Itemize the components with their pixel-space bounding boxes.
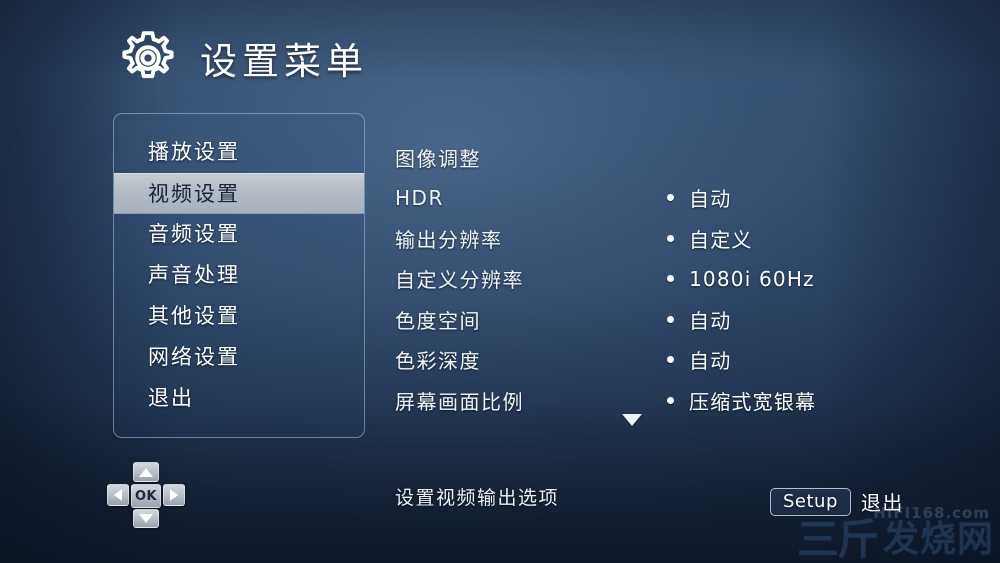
gear-icon <box>118 28 178 88</box>
dpad-control: OK <box>107 462 187 528</box>
dpad-down-button[interactable] <box>133 509 159 528</box>
option-row-color-depth[interactable]: 色彩深度 自动 <box>395 340 955 381</box>
sidebar-item-audio[interactable]: 音频设置 <box>114 214 364 255</box>
option-value: 自定义 <box>689 224 753 253</box>
option-value-container: 1080i 60Hz <box>667 267 815 291</box>
sidebar-item-sound-processing[interactable]: 声音处理 <box>114 255 364 296</box>
option-row-color-space[interactable]: 色度空间 自动 <box>395 299 955 340</box>
right-arrow-icon <box>170 489 178 501</box>
option-label: 输出分辨率 <box>395 224 667 253</box>
option-value-container: 压缩式宽银幕 <box>667 386 816 415</box>
dpad-ok-button[interactable]: OK <box>131 484 161 508</box>
option-row-output-resolution[interactable]: 输出分辨率 自定义 <box>395 218 955 259</box>
scroll-down-icon[interactable] <box>622 414 642 426</box>
sidebar-item-exit[interactable]: 退出 <box>114 378 364 419</box>
option-label: 自定义分辨率 <box>395 264 667 293</box>
option-value: 自动 <box>689 345 731 374</box>
down-arrow-icon <box>139 514 153 523</box>
option-value-container: 自动 <box>667 183 731 212</box>
dpad-right-button[interactable] <box>163 484 185 506</box>
option-value: 压缩式宽银幕 <box>689 386 816 415</box>
option-row-aspect-ratio[interactable]: 屏幕画面比例 压缩式宽银幕 <box>395 380 955 421</box>
sidebar-item-network[interactable]: 网络设置 <box>114 337 364 378</box>
up-arrow-icon <box>139 468 153 477</box>
sidebar-item-label: 视频设置 <box>148 182 240 206</box>
exit-label: 退出 <box>861 487 904 516</box>
options-list: 图像调整 HDR 自动 输出分辨率 自定义 自定义分辨率 1080i <box>395 137 955 421</box>
option-value-container: 自定义 <box>667 224 753 253</box>
page-header: 设置菜单 <box>118 28 368 88</box>
option-label: 图像调整 <box>395 143 667 172</box>
option-label: 色度空间 <box>395 305 667 334</box>
option-row-hdr[interactable]: HDR 自动 <box>395 178 955 219</box>
setup-button[interactable]: Setup <box>770 488 851 516</box>
bullet-icon <box>667 275 674 282</box>
footer-actions: Setup 退出 <box>770 487 904 516</box>
dpad-left-button[interactable] <box>107 484 129 506</box>
option-row-custom-resolution[interactable]: 自定义分辨率 1080i 60Hz <box>395 259 955 300</box>
bullet-icon <box>667 194 674 201</box>
sidebar-item-label: 播放设置 <box>148 140 240 164</box>
option-value: 自动 <box>689 183 731 212</box>
bullet-icon <box>667 316 674 323</box>
sidebar-item-other[interactable]: 其他设置 <box>114 296 364 337</box>
option-label: 屏幕画面比例 <box>395 386 667 415</box>
sidebar-item-label: 网络设置 <box>148 345 240 369</box>
option-value: 自动 <box>689 305 731 334</box>
option-label: 色彩深度 <box>395 345 667 374</box>
dpad-up-button[interactable] <box>133 462 159 482</box>
bullet-icon <box>667 356 674 363</box>
option-label: HDR <box>395 186 667 210</box>
sidebar-item-label: 音频设置 <box>148 222 240 246</box>
sidebar-item-label: 声音处理 <box>148 263 240 287</box>
bullet-icon <box>667 235 674 242</box>
option-row-picture-adjustment[interactable]: 图像调整 <box>395 137 955 178</box>
sidebar-item-label: 退出 <box>148 386 194 410</box>
option-value-container: 自动 <box>667 345 731 374</box>
dpad-ok-label: OK <box>135 489 157 504</box>
sidebar-item-label: 其他设置 <box>148 304 240 328</box>
page-title: 设置菜单 <box>200 31 368 85</box>
bullet-icon <box>667 397 674 404</box>
sidebar-list: 播放设置 视频设置 音频设置 声音处理 其他设置 网络设置 退出 <box>114 132 364 419</box>
sidebar-item-playback[interactable]: 播放设置 <box>114 132 364 173</box>
sidebar-panel: 播放设置 视频设置 音频设置 声音处理 其他设置 网络设置 退出 <box>113 113 365 438</box>
option-value: 1080i 60Hz <box>689 267 815 291</box>
option-value-container: 自动 <box>667 305 731 334</box>
status-hint-text: 设置视频输出选项 <box>395 483 559 510</box>
sidebar-item-video[interactable]: 视频设置 <box>114 173 364 214</box>
option-value-container <box>667 154 689 161</box>
left-arrow-icon <box>114 489 122 501</box>
